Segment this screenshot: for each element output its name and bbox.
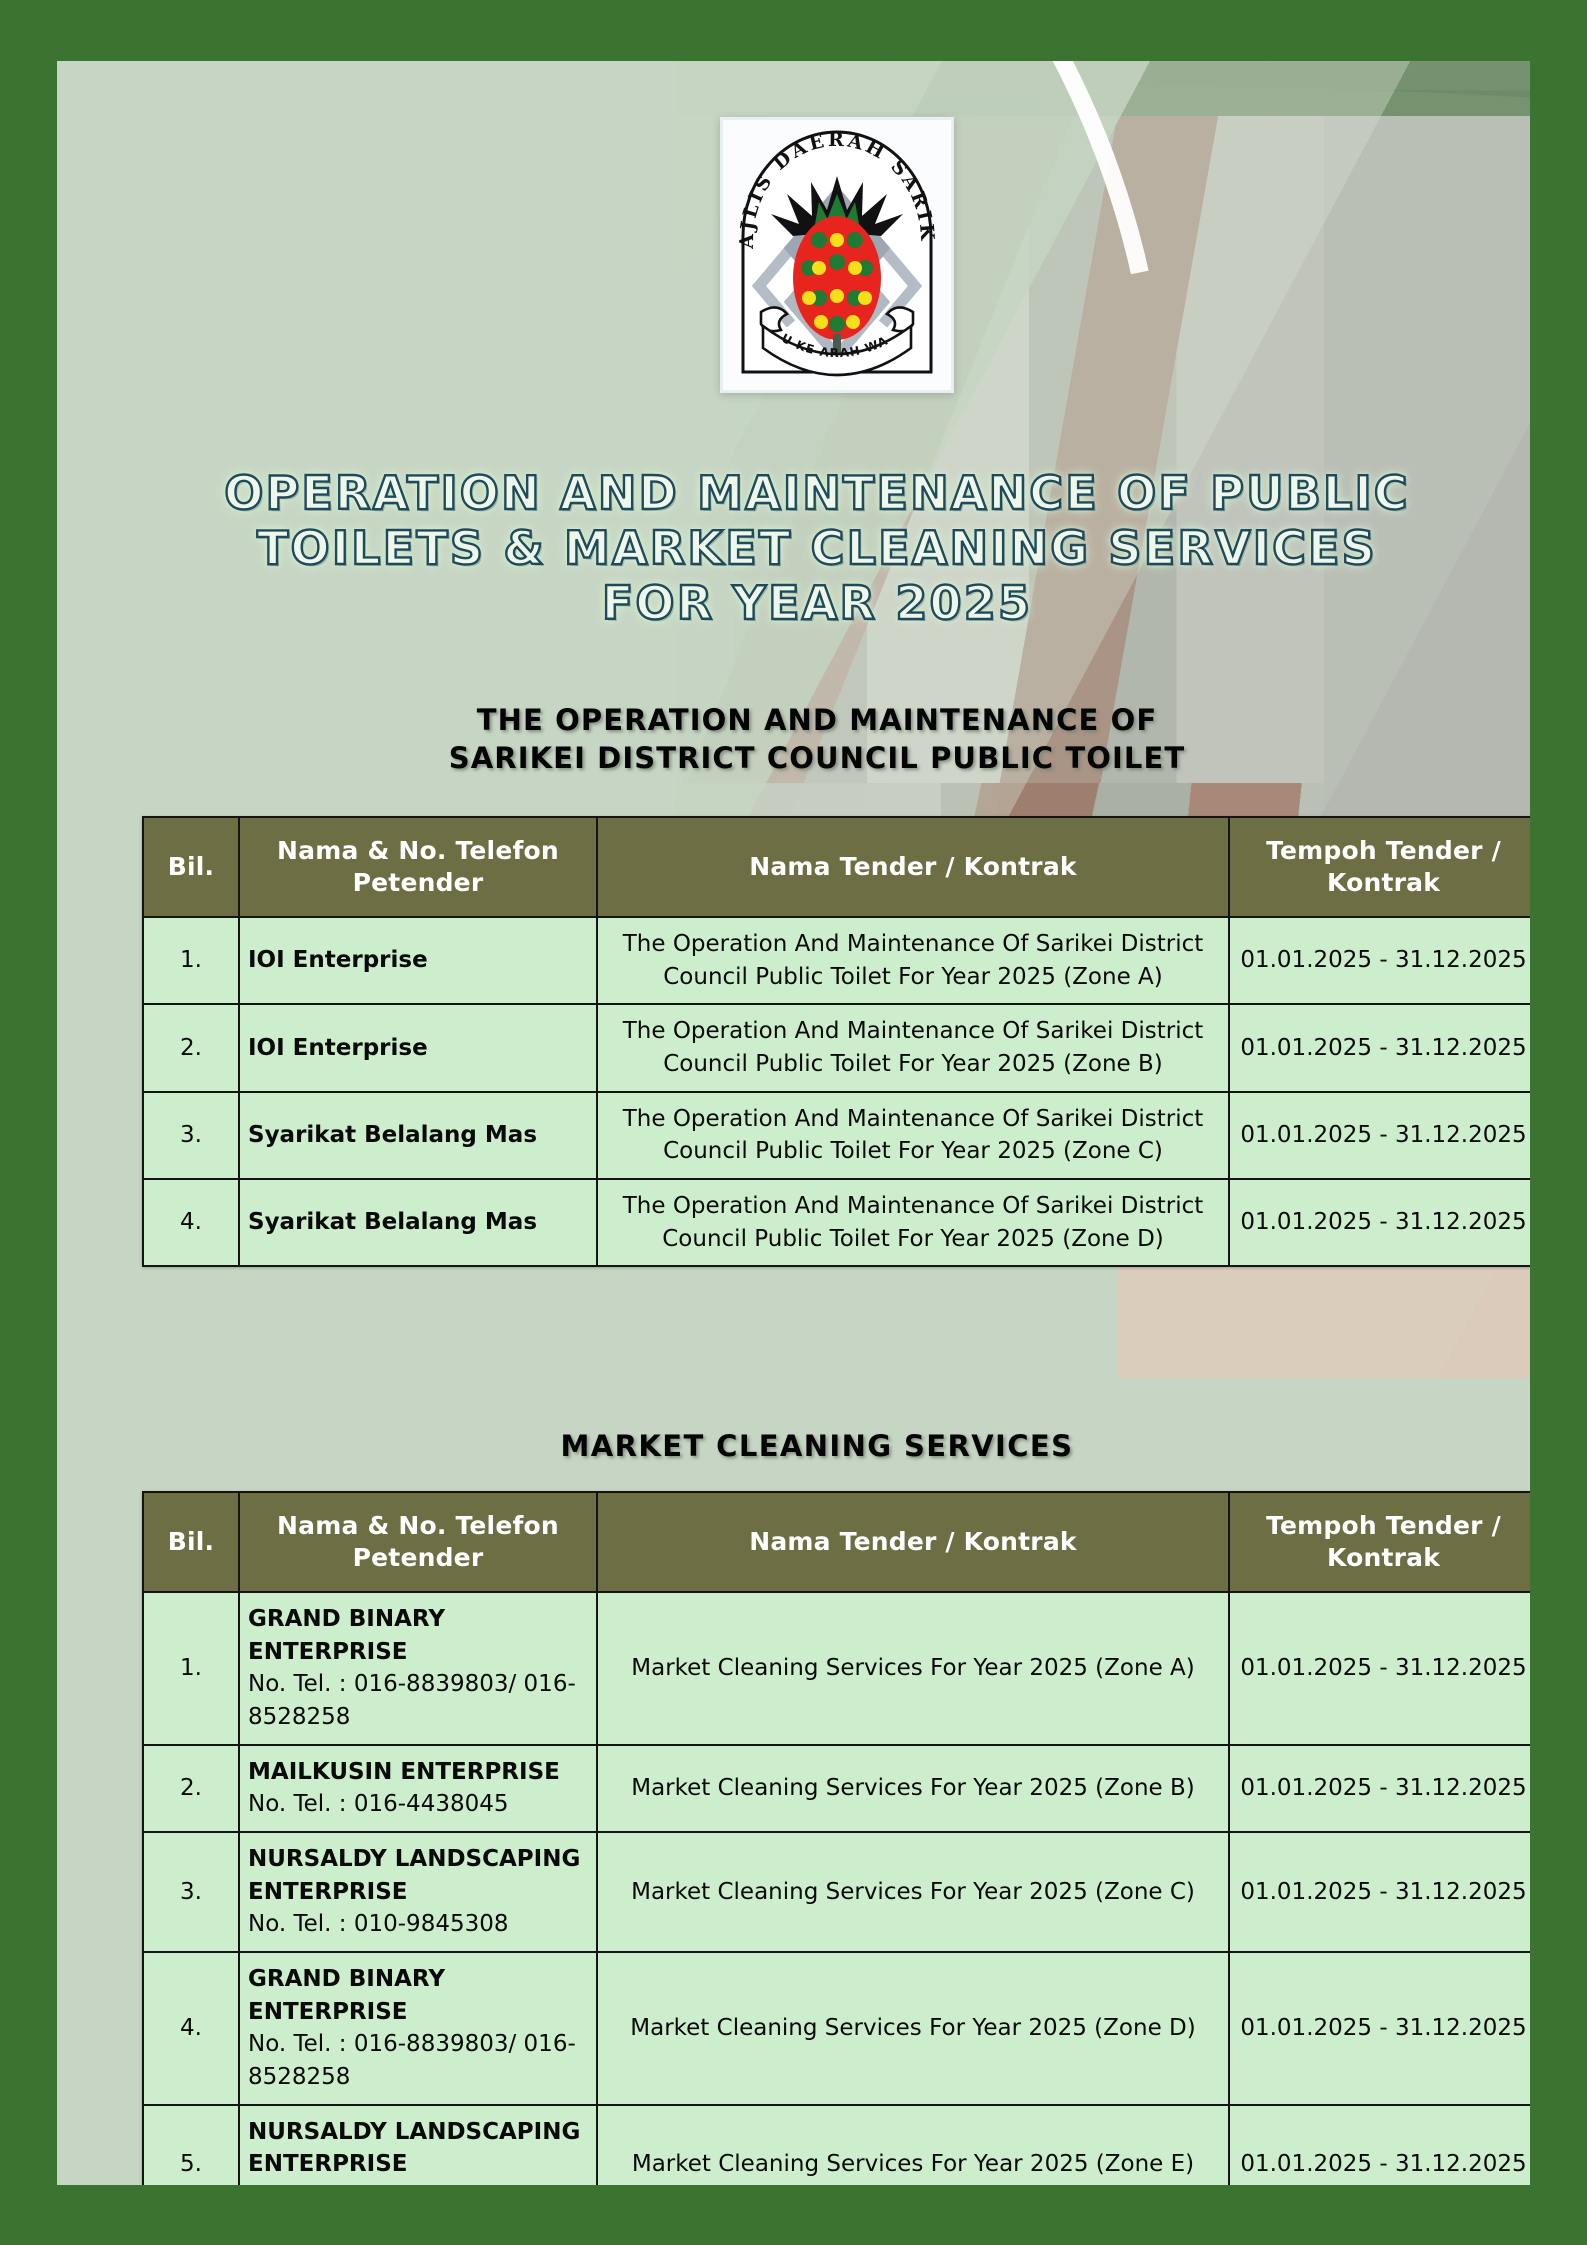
cell-tender-name: Market Cleaning Services For Year 2025 (… — [597, 1592, 1229, 1745]
cell-tenderer-name: NURSALDY LANDSCAPING ENTERPRISENo. Tel. … — [239, 2105, 597, 2185]
tenderer-name: IOI Enterprise — [248, 1035, 428, 1061]
cell-tender-name: Market Cleaning Services For Year 2025 (… — [597, 2105, 1229, 2185]
tenderer-phone: No. Tel. : 016-8839803/ 016-8528258 — [248, 1668, 588, 1733]
table-body-toilets: 1.IOI EnterpriseThe Operation And Mainte… — [143, 917, 1530, 1266]
tenderer-name: Syarikat Belalang Mas — [248, 1122, 537, 1148]
subtitle-line-1: THE OPERATION AND MAINTENANCE OF — [197, 701, 1437, 739]
cell-tender-period: 01.01.2025 - 31.12.2025 — [1229, 1745, 1530, 1832]
cell-bil: 2. — [143, 1004, 239, 1091]
tenderer-phone: No. Tel. : 016-4438045 — [248, 1788, 588, 1821]
cell-bil: 1. — [143, 1592, 239, 1745]
cell-tender-name: The Operation And Maintenance Of Sarikei… — [597, 1179, 1229, 1266]
column-header-tender: Nama Tender / Kontrak — [597, 1492, 1229, 1592]
page-title: OPERATION AND MAINTENANCE OF PUBLIC TOIL… — [197, 466, 1437, 632]
cell-tender-name: The Operation And Maintenance Of Sarikei… — [597, 1004, 1229, 1091]
tenderer-name: GRAND BINARY ENTERPRISE — [248, 1606, 445, 1665]
table-public-toilets: Bil. Nama & No. Telefon Petender Nama Te… — [142, 816, 1530, 1267]
cell-bil: 4. — [143, 1179, 239, 1266]
tenderer-name: Syarikat Belalang Mas — [248, 1209, 537, 1235]
table-row: 1.IOI EnterpriseThe Operation And Mainte… — [143, 917, 1530, 1004]
table-row: 4.GRAND BINARY ENTERPRISENo. Tel. : 016-… — [143, 1952, 1530, 2105]
cell-tenderer-name: Syarikat Belalang Mas — [239, 1179, 597, 1266]
column-header-bil: Bil. — [143, 817, 239, 917]
tenderer-phone: No. Tel. : 010-9845308 — [248, 1908, 588, 1941]
tenderer-name: MAILKUSIN ENTERPRISE — [248, 1759, 560, 1785]
tenderer-name: NURSALDY LANDSCAPING ENTERPRISE — [248, 1846, 580, 1905]
column-header-name: Nama & No. Telefon Petender — [239, 1492, 597, 1592]
cell-bil: 4. — [143, 1952, 239, 2105]
poster-panel: MAJLIS DAERAH SARIKEI MENUJU KE ARAH WAW… — [57, 61, 1530, 2185]
table-row: 5.NURSALDY LANDSCAPING ENTERPRISENo. Tel… — [143, 2105, 1530, 2185]
cell-tender-name: The Operation And Maintenance Of Sarikei… — [597, 917, 1229, 1004]
council-crest: MAJLIS DAERAH SARIKEI MENUJU KE ARAH WAW… — [720, 117, 948, 387]
crest-icon: MAJLIS DAERAH SARIKEI MENUJU KE ARAH WAW… — [720, 117, 954, 393]
cell-tender-period: 01.01.2025 - 31.12.2025 — [1229, 1952, 1530, 2105]
table-row: 3.Syarikat Belalang MasThe Operation And… — [143, 1092, 1530, 1179]
cell-tender-name: Market Cleaning Services For Year 2025 (… — [597, 1952, 1229, 2105]
section-heading-toilets: THE OPERATION AND MAINTENANCE OF SARIKEI… — [197, 701, 1437, 778]
column-header-period: Tempoh Tender / Kontrak — [1229, 1492, 1530, 1592]
cell-bil: 5. — [143, 2105, 239, 2185]
section-heading-market: MARKET CLEANING SERVICES — [197, 1429, 1437, 1463]
table-header-row: Bil. Nama & No. Telefon Petender Nama Te… — [143, 1492, 1530, 1592]
table-header-row: Bil. Nama & No. Telefon Petender Nama Te… — [143, 817, 1530, 917]
table-market-cleaning: Bil. Nama & No. Telefon Petender Nama Te… — [142, 1491, 1530, 2185]
tenderer-name: IOI Enterprise — [248, 947, 428, 973]
cell-tender-name: Market Cleaning Services For Year 2025 (… — [597, 1832, 1229, 1952]
table-row: 3.NURSALDY LANDSCAPING ENTERPRISENo. Tel… — [143, 1832, 1530, 1952]
cell-tenderer-name: Syarikat Belalang Mas — [239, 1092, 597, 1179]
cell-tender-period: 01.01.2025 - 31.12.2025 — [1229, 1092, 1530, 1179]
tenderer-name: NURSALDY LANDSCAPING ENTERPRISE — [248, 2119, 580, 2178]
tenderer-phone: No. Tel. : 016-8839803/ 016-8528258 — [248, 2028, 588, 2093]
column-header-tender: Nama Tender / Kontrak — [597, 817, 1229, 917]
cell-tender-period: 01.01.2025 - 31.12.2025 — [1229, 917, 1530, 1004]
cell-tenderer-name: GRAND BINARY ENTERPRISENo. Tel. : 016-88… — [239, 1592, 597, 1745]
column-header-period: Tempoh Tender / Kontrak — [1229, 817, 1530, 917]
cell-tenderer-name: NURSALDY LANDSCAPING ENTERPRISENo. Tel. … — [239, 1832, 597, 1952]
table-row: 1.GRAND BINARY ENTERPRISENo. Tel. : 016-… — [143, 1592, 1530, 1745]
cell-bil: 3. — [143, 1092, 239, 1179]
cell-tender-period: 01.01.2025 - 31.12.2025 — [1229, 1004, 1530, 1091]
cell-tender-period: 01.01.2025 - 31.12.2025 — [1229, 2105, 1530, 2185]
cell-bil: 3. — [143, 1832, 239, 1952]
table-row: 4.Syarikat Belalang MasThe Operation And… — [143, 1179, 1530, 1266]
subtitle-line-2: SARIKEI DISTRICT COUNCIL PUBLIC TOILET — [197, 739, 1437, 777]
cell-tender-period: 01.01.2025 - 31.12.2025 — [1229, 1179, 1530, 1266]
cell-tenderer-name: GRAND BINARY ENTERPRISENo. Tel. : 016-88… — [239, 1952, 597, 2105]
tenderer-name: GRAND BINARY ENTERPRISE — [248, 1966, 445, 2025]
cell-bil: 2. — [143, 1745, 239, 1832]
column-header-bil: Bil. — [143, 1492, 239, 1592]
cell-tenderer-name: IOI Enterprise — [239, 917, 597, 1004]
cell-tender-period: 01.01.2025 - 31.12.2025 — [1229, 1592, 1530, 1745]
cell-tenderer-name: IOI Enterprise — [239, 1004, 597, 1091]
cell-tender-period: 01.01.2025 - 31.12.2025 — [1229, 1832, 1530, 1952]
cell-tender-name: The Operation And Maintenance Of Sarikei… — [597, 1092, 1229, 1179]
cell-bil: 1. — [143, 917, 239, 1004]
table-row: 2.MAILKUSIN ENTERPRISENo. Tel. : 016-443… — [143, 1745, 1530, 1832]
table-body-market: 1.GRAND BINARY ENTERPRISENo. Tel. : 016-… — [143, 1592, 1530, 2185]
cell-tender-name: Market Cleaning Services For Year 2025 (… — [597, 1745, 1229, 1832]
cell-tenderer-name: MAILKUSIN ENTERPRISENo. Tel. : 016-44380… — [239, 1745, 597, 1832]
table-row: 2.IOI EnterpriseThe Operation And Mainte… — [143, 1004, 1530, 1091]
tenderer-phone: No. Tel. : 010-9845308 — [248, 2181, 588, 2185]
column-header-name: Nama & No. Telefon Petender — [239, 817, 597, 917]
